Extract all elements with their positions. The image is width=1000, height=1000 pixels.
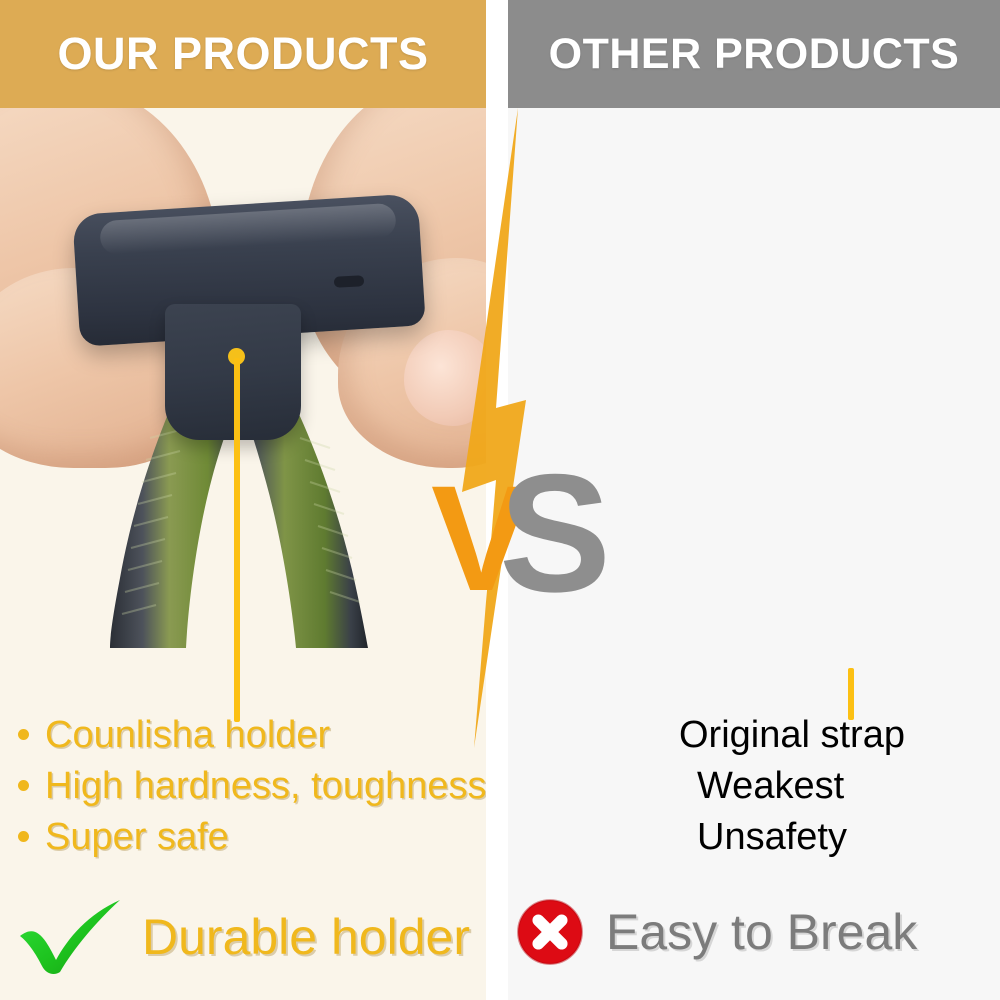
break-callout-line-lower	[848, 668, 854, 720]
holder-callout-line-lower	[234, 640, 240, 722]
list-item: High hardness, toughness	[18, 765, 486, 808]
list-item: Super safe	[18, 816, 486, 859]
bullet-label: Super safe	[45, 816, 229, 859]
bullet-label: Unsafety	[697, 816, 847, 859]
right-banner-title: OTHER PRODUCTS	[549, 30, 960, 79]
bullet-label: Original strap	[679, 714, 905, 757]
bullet-label: High hardness, toughness	[45, 765, 486, 808]
panel-divider	[486, 0, 508, 1000]
left-banner-title: OUR PRODUCTS	[57, 28, 428, 80]
red-x-circle-icon	[516, 898, 584, 966]
holder-tab	[165, 304, 301, 440]
right-panel: Original strap Weakest Unsafety	[508, 0, 1000, 1000]
left-panel: Counlisha holder High hardness, toughnes…	[0, 0, 486, 1000]
right-verdict-row: Easy to Break	[516, 898, 917, 966]
left-verdict-row: Durable holder	[16, 898, 470, 976]
bullet-label: Counlisha holder	[45, 714, 330, 757]
list-item: Original strap	[652, 714, 992, 757]
bullet-dot-icon	[18, 729, 29, 740]
bullet-dot-icon	[670, 780, 681, 791]
left-verdict-label: Durable holder	[142, 908, 470, 966]
right-header-banner: OTHER PRODUCTS	[508, 0, 1000, 108]
bullet-label: Weakest	[697, 765, 844, 808]
bullet-dot-icon	[18, 831, 29, 842]
holder-slot	[334, 275, 365, 288]
left-header-banner: OUR PRODUCTS	[0, 0, 486, 108]
green-check-icon	[16, 898, 128, 976]
bullet-dot-icon	[670, 831, 681, 842]
right-verdict-label: Easy to Break	[606, 903, 917, 961]
comparison-infographic: Counlisha holder High hardness, toughnes…	[0, 0, 1000, 1000]
list-item: Weakest	[670, 765, 992, 808]
left-benefit-list: Counlisha holder High hardness, toughnes…	[18, 714, 486, 867]
list-item: Unsafety	[670, 816, 992, 859]
holder-callout-line-upper	[234, 358, 240, 648]
bullet-dot-icon	[18, 780, 29, 791]
right-drawback-list: Original strap Weakest Unsafety	[652, 714, 992, 867]
bullet-dot-icon	[652, 729, 663, 740]
list-item: Counlisha holder	[18, 714, 486, 757]
left-product-photo	[0, 108, 486, 648]
